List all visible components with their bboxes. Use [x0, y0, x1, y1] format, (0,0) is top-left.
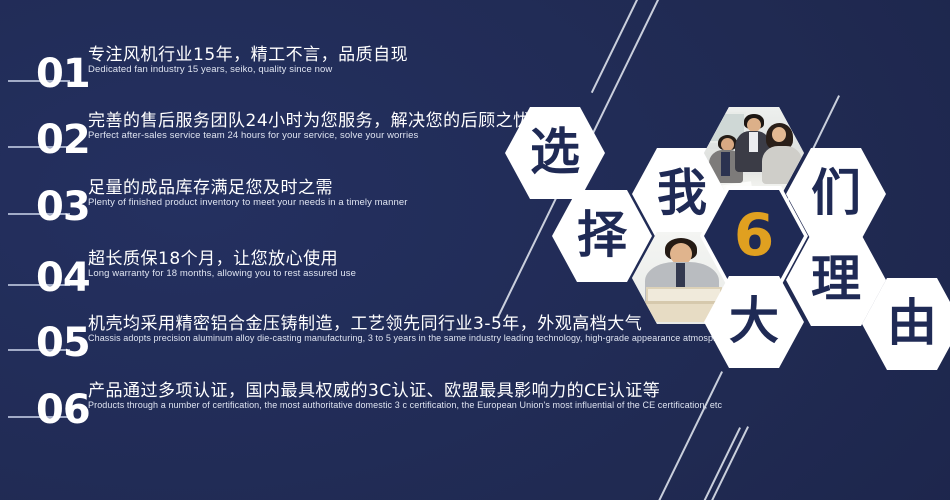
hex-glyph: 我	[657, 168, 707, 218]
hex-cell-xuan: 选	[505, 107, 605, 199]
hex-glyph: 理	[811, 254, 861, 304]
hex-headline: 选 择 我	[0, 0, 950, 500]
hex-glyph: 选	[530, 127, 580, 177]
promo-banner: 01 专注风机行业15年，精工不言，品质自现 Dedicated fan ind…	[0, 0, 950, 500]
hex-glyph: 们	[811, 168, 861, 218]
hex-cell-ze: 择	[552, 190, 652, 282]
hex-glyph: 由	[887, 298, 937, 348]
hex-glyph: 择	[577, 210, 627, 260]
hex-glyph-six: 6	[734, 206, 774, 264]
hex-glyph: 大	[729, 296, 779, 346]
